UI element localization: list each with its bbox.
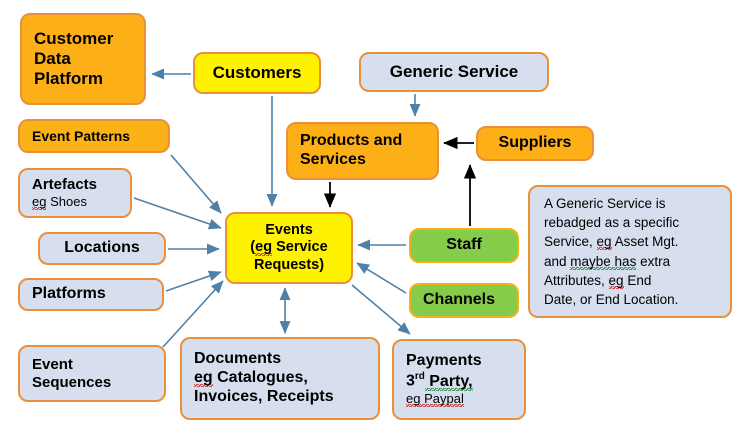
node-documents[interactable]: Documents eg Catalogues, Invoices, Recei… (180, 337, 380, 420)
node-platforms[interactable]: Platforms (18, 278, 164, 311)
note-line-4-post: extra (636, 254, 670, 269)
node-artefacts[interactable]: Artefacts eg Shoes (18, 168, 132, 218)
channels-label: Channels (423, 291, 495, 310)
payments-line-3: eg Paypal (406, 391, 464, 406)
note-line-2: rebadged as a specific (544, 213, 679, 232)
artefacts-eg-rest: Shoes (46, 194, 86, 209)
locations-label: Locations (64, 239, 140, 258)
edge-events-to-payments (352, 285, 410, 334)
edge-platforms-to-events (166, 272, 221, 291)
documents-line-2: eg Catalogues, (194, 369, 308, 388)
note-line-4-grammar: maybe has (570, 254, 636, 270)
documents-line-3: Invoices, Receipts (194, 388, 334, 407)
payments-line-2: 3rd Party, (406, 371, 473, 391)
node-payments[interactable]: Payments 3rd Party, eg Paypal (392, 339, 526, 420)
note-generic-service-explanation: A Generic Service is rebadged as a speci… (528, 185, 732, 318)
node-event-sequences[interactable]: Event Sequences (18, 345, 166, 402)
node-products-and-services[interactable]: Products and Services (286, 122, 439, 180)
note-line-5-eg: eg (609, 273, 624, 289)
artefacts-eg: eg (32, 194, 46, 210)
events-line-2: (eg Service (250, 239, 327, 256)
note-line-3: Service, eg Asset Mgt. (544, 232, 678, 251)
node-generic-service[interactable]: Generic Service (359, 52, 549, 92)
node-event-patterns[interactable]: Event Patterns (18, 119, 170, 153)
note-line-4: and maybe has extra (544, 252, 670, 271)
events-line-1: Events (265, 222, 313, 239)
cdp-line-3: Platform (34, 69, 103, 89)
events-line-3: Requests) (254, 257, 324, 274)
node-customer-data-platform[interactable]: Customer Data Platform (20, 13, 146, 105)
staff-label: Staff (446, 236, 482, 255)
node-locations[interactable]: Locations (38, 232, 166, 265)
event-patterns-label: Event Patterns (32, 128, 130, 145)
note-line-5: Attributes, eg End (544, 271, 651, 290)
note-line-3-post: Asset Mgt. (612, 234, 679, 249)
note-line-5-post: End (624, 273, 652, 288)
node-channels[interactable]: Channels (409, 283, 519, 318)
platforms-label: Platforms (32, 285, 106, 304)
events-line-2-rest: Service (272, 239, 328, 255)
events-eg: eg (255, 239, 272, 256)
event-sequences-line-1: Event (32, 356, 73, 374)
edge-eventpatterns-to-events (171, 155, 221, 213)
edge-artefacts-to-events (134, 198, 221, 228)
note-line-6: Date, or End Location. (544, 290, 678, 309)
artefacts-line-2: eg Shoes (32, 194, 87, 209)
diagram-canvas: Customer Data Platform Customers Generic… (0, 0, 744, 440)
cdp-line-2: Data (34, 49, 71, 69)
documents-line-2-rest: Catalogues, (213, 369, 308, 386)
node-suppliers[interactable]: Suppliers (476, 126, 594, 161)
payments-line-3-rest: Paypal (420, 391, 463, 407)
documents-eg: eg (194, 369, 213, 387)
note-line-1: A Generic Service is (544, 194, 666, 213)
cdp-line-1: Customer (34, 29, 113, 49)
payments-ordinal-number: 3 (406, 373, 415, 390)
suppliers-label: Suppliers (499, 134, 572, 153)
customers-label: Customers (213, 63, 302, 83)
node-staff[interactable]: Staff (409, 228, 519, 263)
payments-eg: eg (406, 391, 420, 407)
products-line-1: Products and (300, 132, 402, 151)
event-sequences-line-2: Sequences (32, 374, 111, 392)
note-line-4-pre: and (544, 254, 570, 269)
node-events[interactable]: Events (eg Service Requests) (225, 212, 353, 284)
documents-line-1: Documents (194, 350, 281, 369)
note-line-3-eg: eg (597, 234, 612, 250)
products-line-2: Services (300, 151, 366, 170)
note-line-3-pre: Service, (544, 234, 597, 249)
payments-ordinal-suffix: rd (415, 371, 425, 382)
node-customers[interactable]: Customers (193, 52, 321, 94)
edge-channels-to-events (357, 263, 406, 293)
artefacts-line-1: Artefacts (32, 176, 97, 194)
payments-line-1: Payments (406, 352, 482, 371)
note-line-5-pre: Attributes, (544, 273, 609, 288)
generic-service-label: Generic Service (390, 62, 519, 82)
payments-line-2-post: Party, (425, 373, 473, 391)
